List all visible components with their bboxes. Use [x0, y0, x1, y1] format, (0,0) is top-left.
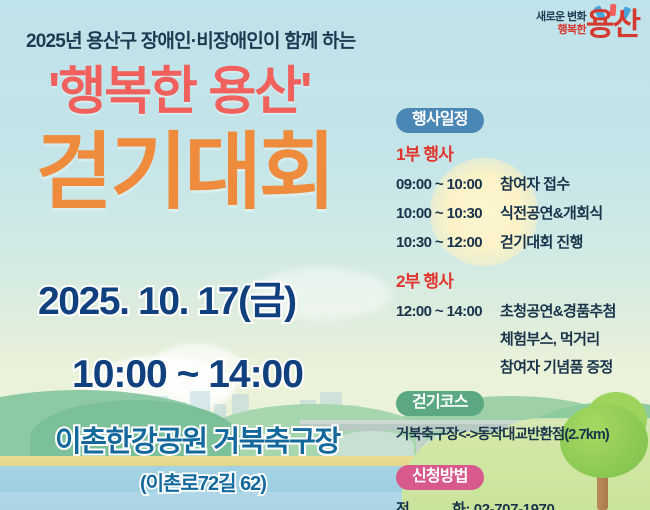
- part1-heading: 1부 행사: [396, 146, 648, 163]
- page-title: 걷기대회: [36, 130, 333, 214]
- schedule-row: 참여자 기념품 증정: [396, 360, 648, 375]
- phone-number: 화: 02-707-1970: [452, 502, 554, 510]
- schedule-row: 체험부스, 먹거리: [396, 332, 648, 347]
- schedule-row: 10:30 ~ 12:00 걷기대회 진행: [396, 235, 648, 250]
- schedule-row: 09:00 ~ 10:00 참여자 접수: [396, 177, 648, 192]
- schedule-detail: 식전공연&개회식: [500, 206, 648, 221]
- schedule-detail: 참여자 기념품 증정: [500, 360, 648, 375]
- course-text: 거북축구장<->동작대교반환점(2.7km): [396, 428, 648, 443]
- schedule-detail: 초청공연&경품추첨: [500, 304, 648, 319]
- info-panel: 행사일정 1부 행사 09:00 ~ 10:00 참여자 접수 10:00 ~ …: [396, 108, 648, 510]
- yongsan-logo: 새로운 변화 행복한 용산: [500, 4, 644, 52]
- part2-heading: 2부 행사: [396, 273, 648, 290]
- schedule-time: 09:00 ~ 10:00: [396, 177, 500, 192]
- schedule-time: 12:00 ~ 14:00: [396, 304, 500, 319]
- event-venue: 이촌한강공원 거북축구장: [55, 428, 340, 457]
- phone-label: 전: [396, 502, 452, 510]
- poster-subtitle: '행복한 용산': [48, 66, 310, 118]
- schedule-time: 10:00 ~ 10:30: [396, 206, 500, 221]
- event-time: 10:00 ~ 14:00: [72, 355, 303, 394]
- schedule-detail: 체험부스, 먹거리: [500, 332, 648, 347]
- schedule-badge: 행사일정: [396, 108, 484, 133]
- schedule-row: 10:00 ~ 10:30 식전공연&개회식: [396, 206, 648, 221]
- schedule-detail: 참여자 접수: [500, 177, 648, 192]
- event-date: 2025. 10. 17(금): [38, 282, 296, 321]
- schedule-row: 12:00 ~ 14:00 초청공연&경품추첨: [396, 304, 648, 319]
- apply-badge: 신청방법: [396, 465, 484, 490]
- schedule-time: 10:30 ~ 12:00: [396, 235, 500, 250]
- logo-tagline: 새로운 변화 행복한: [500, 11, 586, 37]
- poster-kicker: 2025년 용산구 장애인·비장애인이 함께 하는: [26, 26, 355, 53]
- logo-wordmark: 용산: [586, 9, 639, 40]
- schedule-detail: 걷기대회 진행: [500, 235, 648, 250]
- course-badge: 걷기코스: [396, 391, 484, 416]
- event-address: (이촌로72길 62): [140, 474, 266, 494]
- logo-tagline-line1: 새로운 변화: [500, 11, 586, 24]
- event-poster: 새로운 변화 행복한 용산 2025년 용산구 장애인·비장애인이 함께 하는 …: [0, 0, 650, 510]
- logo-tagline-line2: 행복한: [500, 24, 586, 37]
- phone-row: 전 화: 02-707-1970: [396, 502, 648, 510]
